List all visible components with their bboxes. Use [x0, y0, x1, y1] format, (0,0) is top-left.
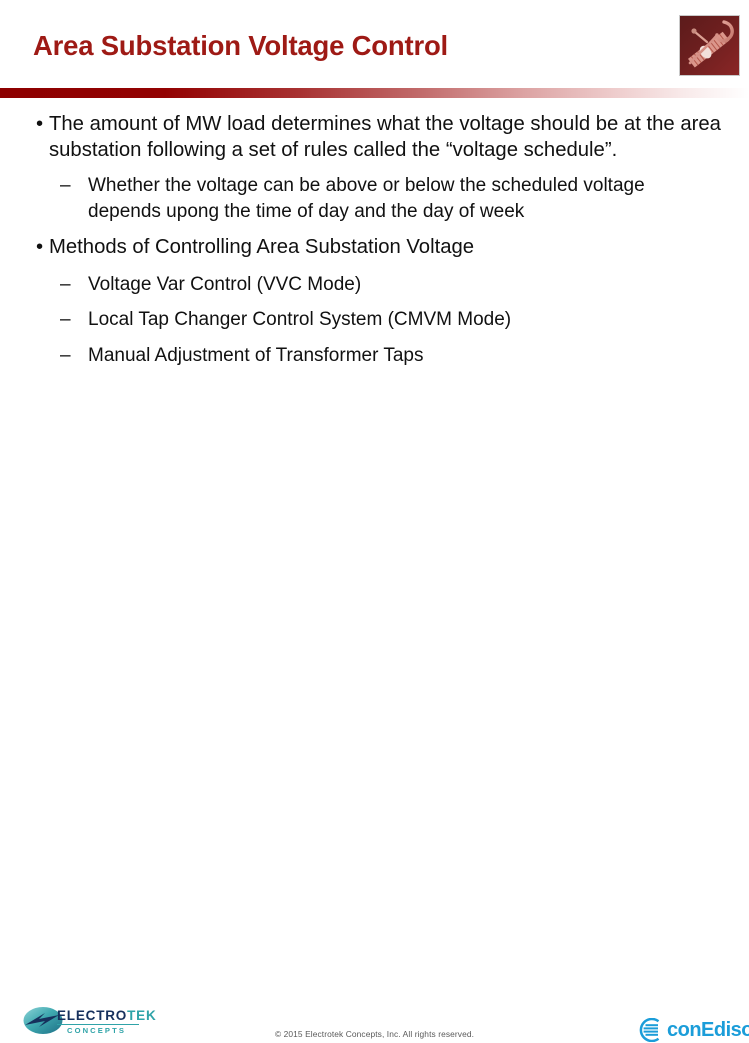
list-item-text: Whether the voltage can be above or belo… [88, 175, 645, 222]
list-item: – Voltage Var Control (VVC Mode) [32, 272, 722, 298]
bullet-list: • The amount of MW load determines what … [32, 112, 722, 368]
slide-footer: ELECTROTEK CONCEPTS © 2015 Electrotek Co… [0, 493, 749, 555]
bullet-marker: • [36, 112, 43, 138]
list-item: – Whether the voltage can be above or be… [32, 173, 722, 224]
slide-body: • The amount of MW load determines what … [32, 112, 722, 368]
conedison-wordmark: conEdison [667, 1020, 749, 1040]
bullet-marker: – [60, 272, 71, 298]
list-item-text: Manual Adjustment of Transformer Taps [88, 345, 423, 366]
electrotek-wordmark-part2: TEK [127, 1008, 156, 1023]
list-item-text: The amount of MW load determines what th… [49, 113, 721, 161]
list-item: • The amount of MW load determines what … [32, 112, 722, 163]
conedison-c-mark-icon [637, 1018, 661, 1042]
substation-equipment-photo-icon [679, 15, 740, 76]
slide-canvas: Area Substation Voltage Control [0, 0, 749, 555]
title-divider [0, 88, 749, 98]
bullet-marker: – [60, 343, 71, 369]
page-title: Area Substation Voltage Control [33, 31, 448, 61]
electrotek-wordmark: ELECTROTEK [57, 1008, 157, 1023]
electrotek-divider [57, 1024, 139, 1025]
title-block: Area Substation Voltage Control [33, 22, 633, 70]
list-item-text: Methods of Controlling Area Substation V… [49, 236, 474, 258]
list-item-text: Voltage Var Control (VVC Mode) [88, 274, 361, 295]
electrotek-wordmark-part1: ELECTRO [57, 1008, 127, 1023]
bullet-marker: – [60, 173, 71, 199]
list-item-text: Local Tap Changer Control System (CMVM M… [88, 309, 511, 330]
conedison-logo: conEdison [637, 1017, 749, 1043]
bullet-marker: • [36, 235, 43, 261]
bullet-marker: – [60, 307, 71, 333]
list-item: – Manual Adjustment of Transformer Taps [32, 343, 722, 369]
list-item: • Methods of Controlling Area Substation… [32, 235, 722, 261]
list-item: – Local Tap Changer Control System (CMVM… [32, 307, 722, 333]
